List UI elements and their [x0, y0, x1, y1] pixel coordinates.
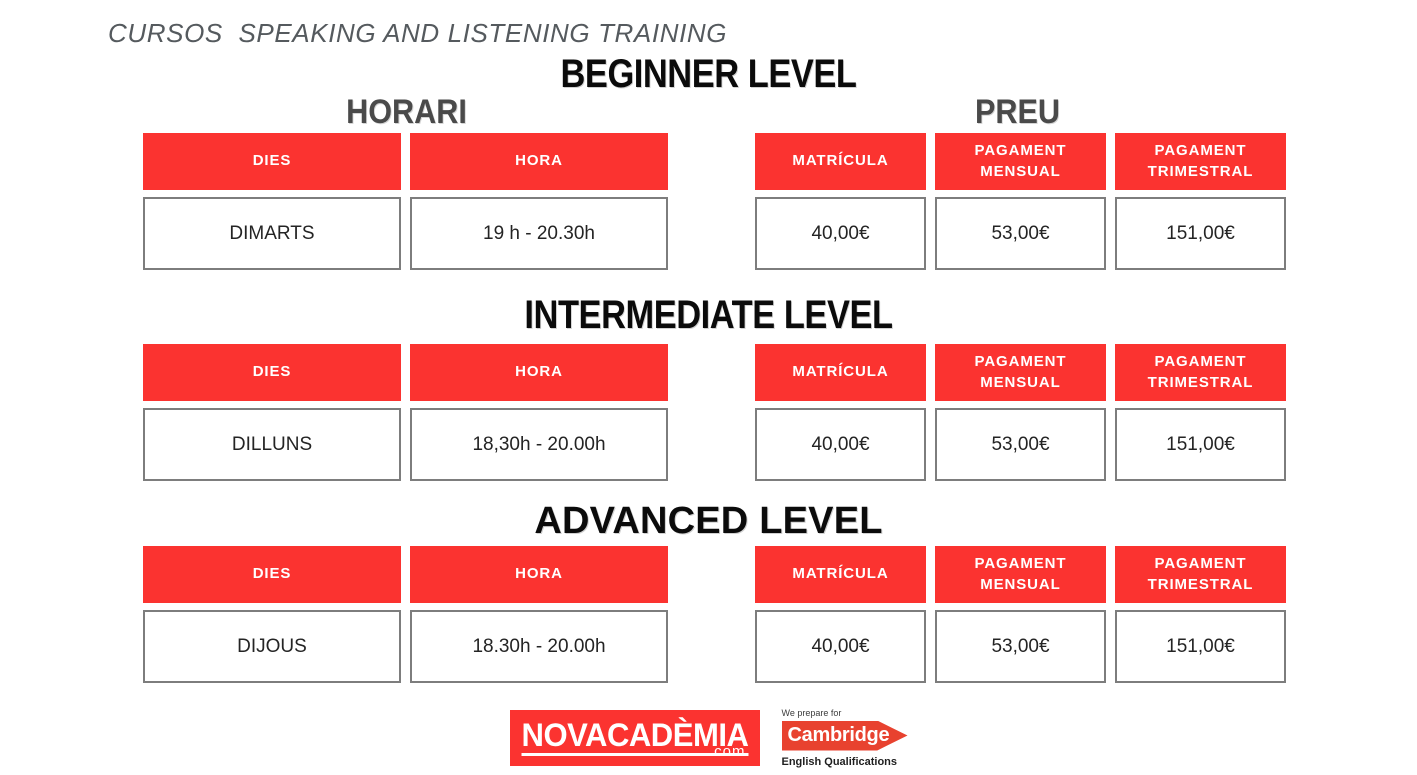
price-table-advanced: MATRÍCULA 40,00€ PAGAMENT MENSUAL 53,00€…	[755, 546, 1286, 683]
course-eyebrow-title: CURSOS SPEAKING AND LISTENING TRAINING	[108, 18, 727, 49]
column-header-hora: HORA	[410, 133, 668, 190]
schedule-table-advanced: DIES DIJOUS HORA 18.30h - 20.00h	[143, 546, 668, 683]
column-hora: HORA 18,30h - 20.00h	[410, 344, 668, 481]
footer-logos: NOVACADÈMIA .com We prepare for Cambridg…	[0, 700, 1417, 775]
header-line-2: TRIMESTRAL	[1148, 163, 1254, 180]
schedule-table-beginner: DIES DIMARTS HORA 19 h - 20.30h	[143, 133, 668, 270]
column-hora: HORA 18.30h - 20.00h	[410, 546, 668, 683]
column-pagament-trimestral: PAGAMENT TRIMESTRAL 151,00€	[1115, 546, 1286, 683]
level-title-intermediate: INTERMEDIATE LEVEL	[99, 293, 1318, 338]
column-header-dies: DIES	[143, 546, 401, 603]
column-header-pagament-trimestral: PAGAMENT TRIMESTRAL	[1115, 133, 1286, 190]
cell-hora-value: 18,30h - 20.00h	[410, 408, 668, 481]
column-header-pagament-trimestral: PAGAMENT TRIMESTRAL	[1115, 344, 1286, 401]
cell-matricula-value: 40,00€	[755, 610, 926, 683]
column-pagament-trimestral: PAGAMENT TRIMESTRAL 151,00€	[1115, 133, 1286, 270]
level-title-advanced: ADVANCED LEVEL	[0, 500, 1417, 543]
cell-matricula-value: 40,00€	[755, 197, 926, 270]
cambridge-logo: We prepare for Cambridge English Qualifi…	[782, 708, 908, 768]
novacademia-domain-suffix: .com	[709, 743, 746, 760]
column-header-dies: DIES	[143, 344, 401, 401]
header-line-2: MENSUAL	[980, 163, 1060, 180]
column-matricula: MATRÍCULA 40,00€	[755, 344, 926, 481]
cambridge-arrow-mark: Cambridge	[782, 721, 908, 751]
section-advanced: DIES DIJOUS HORA 18.30h - 20.00h MATRÍCU…	[0, 546, 1417, 696]
schedule-table-intermediate: DIES DILLUNS HORA 18,30h - 20.00h	[143, 344, 668, 481]
header-line-1: PAGAMENT	[1155, 142, 1247, 159]
column-header-pagament-mensual: PAGAMENT MENSUAL	[935, 133, 1106, 190]
header-line-1: PAGAMENT	[975, 555, 1067, 572]
cell-pagament-trimestral-value: 151,00€	[1115, 197, 1286, 270]
column-header-matricula: MATRÍCULA	[755, 344, 926, 401]
cell-dies-value: DIJOUS	[143, 610, 401, 683]
cambridge-wordmark: Cambridge	[788, 721, 890, 751]
column-header-pagament-trimestral: PAGAMENT TRIMESTRAL	[1115, 546, 1286, 603]
column-header-pagament-mensual: PAGAMENT MENSUAL	[935, 546, 1106, 603]
column-header-hora: HORA	[410, 546, 668, 603]
column-matricula: MATRÍCULA 40,00€	[755, 546, 926, 683]
cell-hora-value: 18.30h - 20.00h	[410, 610, 668, 683]
column-pagament-mensual: PAGAMENT MENSUAL 53,00€	[935, 344, 1106, 481]
tables-row: DIES DILLUNS HORA 18,30h - 20.00h MATRÍC…	[0, 344, 1417, 494]
column-pagament-mensual: PAGAMENT MENSUAL 53,00€	[935, 133, 1106, 270]
cell-pagament-mensual-value: 53,00€	[935, 610, 1106, 683]
column-dies: DIES DIMARTS	[143, 133, 401, 270]
schedule-group-caption: HORARI	[173, 93, 640, 132]
section-beginner: DIES DIMARTS HORA 19 h - 20.30h MATRÍCUL…	[0, 133, 1417, 283]
column-header-matricula: MATRÍCULA	[755, 546, 926, 603]
cell-pagament-trimestral-value: 151,00€	[1115, 610, 1286, 683]
column-header-hora: HORA	[410, 344, 668, 401]
section-intermediate: DIES DILLUNS HORA 18,30h - 20.00h MATRÍC…	[0, 344, 1417, 494]
cambridge-tagline-top: We prepare for	[782, 708, 842, 718]
header-line-1: PAGAMENT	[975, 142, 1067, 159]
column-matricula: MATRÍCULA 40,00€	[755, 133, 926, 270]
header-line-1: PAGAMENT	[1155, 353, 1247, 370]
cambridge-tagline-bottom: English Qualifications	[782, 756, 898, 768]
cell-pagament-trimestral-value: 151,00€	[1115, 408, 1286, 481]
header-line-1: PAGAMENT	[975, 353, 1067, 370]
column-dies: DIES DILLUNS	[143, 344, 401, 481]
column-hora: HORA 19 h - 20.30h	[410, 133, 668, 270]
column-header-dies: DIES	[143, 133, 401, 190]
cell-pagament-mensual-value: 53,00€	[935, 408, 1106, 481]
header-line-2: TRIMESTRAL	[1148, 576, 1254, 593]
header-line-2: MENSUAL	[980, 576, 1060, 593]
cell-dies-value: DIMARTS	[143, 197, 401, 270]
novacademia-logo: NOVACADÈMIA .com	[510, 710, 760, 766]
column-header-pagament-mensual: PAGAMENT MENSUAL	[935, 344, 1106, 401]
column-dies: DIES DIJOUS	[143, 546, 401, 683]
column-header-matricula: MATRÍCULA	[755, 133, 926, 190]
header-line-1: PAGAMENT	[1155, 555, 1247, 572]
price-group-caption: PREU	[783, 93, 1252, 132]
cell-hora-value: 19 h - 20.30h	[410, 197, 668, 270]
header-line-2: TRIMESTRAL	[1148, 374, 1254, 391]
column-pagament-trimestral: PAGAMENT TRIMESTRAL 151,00€	[1115, 344, 1286, 481]
cell-pagament-mensual-value: 53,00€	[935, 197, 1106, 270]
price-table-intermediate: MATRÍCULA 40,00€ PAGAMENT MENSUAL 53,00€…	[755, 344, 1286, 481]
tables-row: DIES DIMARTS HORA 19 h - 20.30h MATRÍCUL…	[0, 133, 1417, 283]
header-line-2: MENSUAL	[980, 374, 1060, 391]
level-title-beginner: BEGINNER LEVEL	[99, 52, 1318, 97]
column-pagament-mensual: PAGAMENT MENSUAL 53,00€	[935, 546, 1106, 683]
tables-row: DIES DIJOUS HORA 18.30h - 20.00h MATRÍCU…	[0, 546, 1417, 696]
cell-matricula-value: 40,00€	[755, 408, 926, 481]
price-table-beginner: MATRÍCULA 40,00€ PAGAMENT MENSUAL 53,00€…	[755, 133, 1286, 270]
cell-dies-value: DILLUNS	[143, 408, 401, 481]
